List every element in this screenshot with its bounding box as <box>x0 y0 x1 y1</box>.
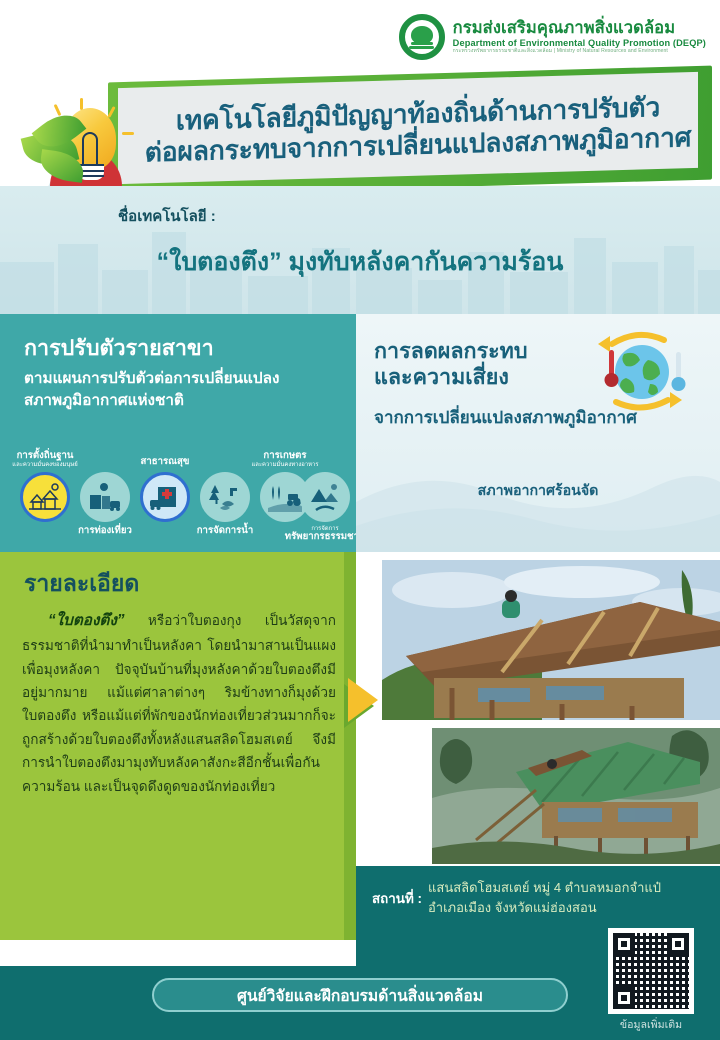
adaptation-heading: การปรับตัวรายสาขา <box>24 336 336 362</box>
adaptation-sub-2: สภาพภูมิอากาศแห่งชาติ <box>24 390 344 412</box>
org-name-th: กรมส่งเสริมคุณภาพสิ่งแวดล้อม <box>453 19 706 37</box>
hospital-ambulance-icon <box>140 472 190 522</box>
impact-condition: สภาพอากาศร้อนจัด <box>356 480 720 502</box>
adaptation-sub-1: ตามแผนการปรับตัวต่อการเปลี่ยนแปลง <box>24 368 344 390</box>
footer-pill[interactable]: ศูนย์วิจัยและฝึกอบรมด้านสิ่งแวดล้อม <box>152 978 568 1012</box>
location-line-1: แสนสลิดโฮมสเตย์ หมู่ 4 ตำบลหมอกจำแป๋ <box>428 878 678 898</box>
page-title: เทคโนโลยีภูมิปัญญาท้องถิ่นด้านการปรับตัว… <box>126 74 696 186</box>
location-label: สถานที่ : <box>372 888 422 909</box>
yellow-play-arrow-icon <box>348 678 378 722</box>
qr-caption: ข้อมูลเพิ่มเติม <box>600 1016 702 1033</box>
details-heading: รายละเอียด <box>24 566 139 602</box>
cold-thermometer-icon <box>672 352 686 391</box>
technology-name-band: ชื่อเทคโนโลยี : “ใบตองตึง” มุงทับหลังคาก… <box>0 186 720 314</box>
water-faucet-river-icon <box>200 472 250 522</box>
org-name-en: Department of Environmental Quality Prom… <box>453 38 706 48</box>
impact-heading: การลดผลกระทบ และความเสี่ยง <box>374 338 594 390</box>
footer-text: ศูนย์วิจัยและฝึกอบรมด้านสิ่งแวดล้อม <box>237 983 483 1008</box>
village-houses-icon <box>20 472 70 522</box>
details-lead: “ใบตองตึง” <box>48 612 124 629</box>
natural-resources-mountain-icon <box>300 472 350 522</box>
tree-water-circle-logo-icon <box>399 14 445 60</box>
roof-construction-photo <box>382 560 720 720</box>
sector-item-public-health[interactable]: สาธารณสุข <box>140 472 190 522</box>
impact-heading-2: และความเสี่ยง <box>374 364 594 390</box>
sector-caption-public-health: สาธารณสุข <box>105 457 225 468</box>
sector-item-water-management[interactable]: การจัดการน้ำ <box>200 472 250 522</box>
sector-caption-agriculture: การเกษตร และความมั่นคงทางอาหาร <box>225 451 345 468</box>
ministry-line: กระทรวงทรัพยากรธรรมชาติและสิ่งแวดล้อม | … <box>453 49 706 55</box>
homestay-house-photo <box>432 728 720 864</box>
sector-item-tourism[interactable]: การท่องเที่ยว <box>80 472 130 522</box>
impact-heading-1: การลดผลกระทบ <box>374 338 594 364</box>
sector-caption-settlement: การตั้งถิ่นฐาน และความมั่นคงของมนุษย์ <box>0 451 105 468</box>
adaptation-panel: การปรับตัวรายสาขา ตามแผนการปรับตัวต่อการ… <box>0 314 356 552</box>
tourism-city-car-icon <box>80 472 130 522</box>
sector-item-settlement[interactable]: การตั้งถิ่นฐาน และความมั่นคงของมนุษย์ <box>20 472 70 522</box>
details-body-text: หรือว่าใบตองกุง เป็นวัสดุจากธรรมชาติที่น… <box>22 613 336 794</box>
technology-value: “ใบตองตึง” มุงทับหลังคากันความร้อน <box>0 242 720 282</box>
deqp-logo: กรมส่งเสริมคุณภาพสิ่งแวดล้อม Department … <box>399 14 706 60</box>
poster-root: กรมส่งเสริมคุณภาพสิ่งแวดล้อม Department … <box>0 0 720 1040</box>
details-body: “ใบตองตึง” หรือว่าใบตองกุง เป็นวัสดุจากธ… <box>22 608 336 798</box>
qr-code-icon[interactable] <box>608 928 694 1014</box>
globe-thermometers-climate-icon <box>590 328 694 414</box>
location-line-2: อำเภอเมือง จังหวัดแม่ฮ่องสอน <box>428 898 678 918</box>
technology-label: ชื่อเทคโนโลยี : <box>118 204 216 228</box>
sector-item-natural-resources[interactable]: การจัดการ ทรัพยากรธรรมชาติ <box>300 472 350 522</box>
sector-caption-tourism: การท่องเที่ยว <box>45 526 165 537</box>
photo-area <box>356 552 720 866</box>
sector-icon-row: การตั้งถิ่นฐาน และความมั่นคงของมนุษย์ <box>8 446 352 546</box>
details-panel: รายละเอียด “ใบตองตึง” หรือว่าใบตองกุง เป… <box>0 552 356 940</box>
impact-panel: การลดผลกระทบ และความเสี่ยง จากการเปลี่ยน… <box>356 314 720 552</box>
